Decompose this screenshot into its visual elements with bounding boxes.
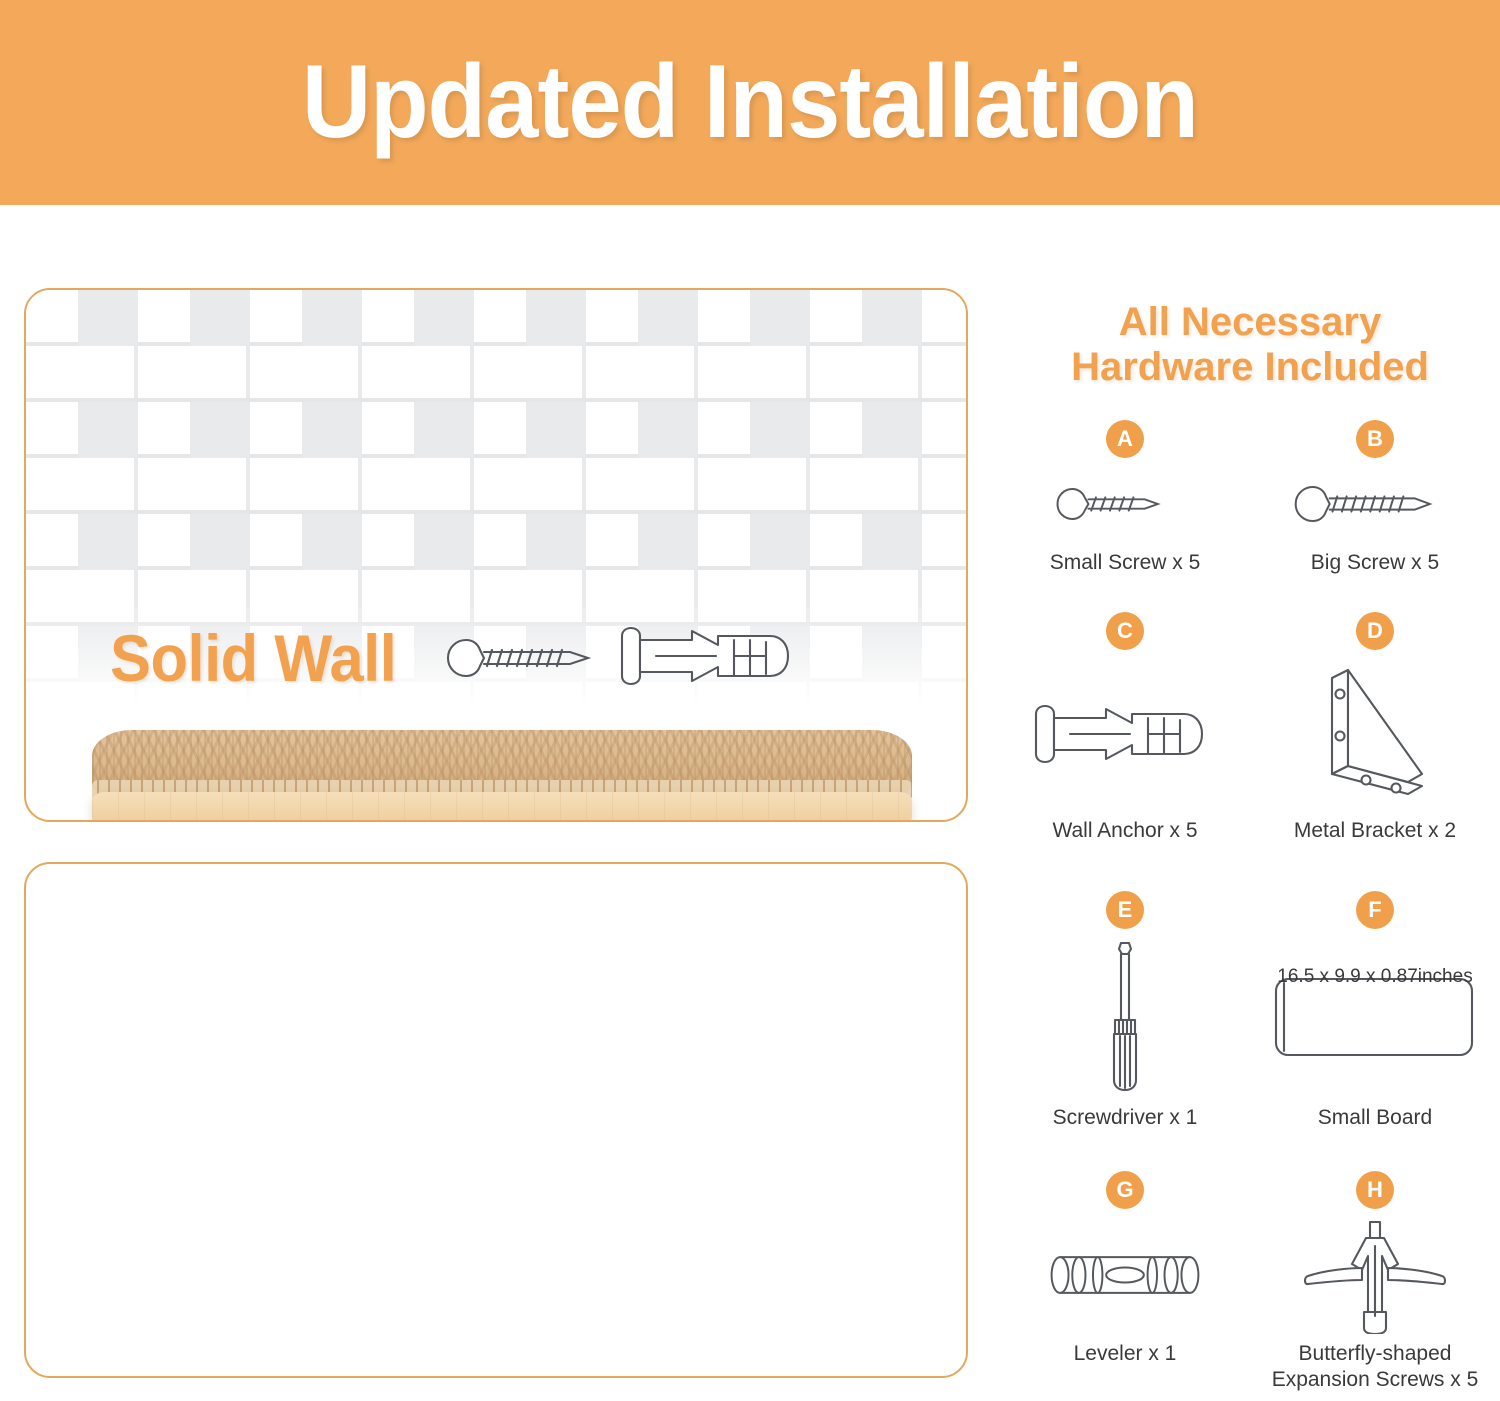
hardware-row: A Small Screw x 5 B — [1000, 420, 1500, 576]
wood-shelf-board — [92, 792, 912, 822]
shelf-product-image-solid — [92, 730, 912, 822]
board-icon: 16.5 x 9.9 x 0.87inches — [1270, 929, 1480, 1105]
header-banner: Updated Installation — [0, 0, 1500, 205]
hardware-row: G Leveler x 1 H — [1000, 1171, 1500, 1394]
butterfly-anchor-icon — [1300, 1209, 1450, 1341]
drywall-panel: Note: Drywall / hollow wall — [24, 862, 968, 1378]
wall-anchor-icon — [616, 620, 806, 692]
hardware-label-butterfly-screw: Butterfly-shaped Expansion Screws x 5 — [1250, 1341, 1500, 1394]
hardware-row: C Wall Anchor x 5 D — [1000, 612, 1500, 844]
hardware-grid: A Small Screw x 5 B — [1000, 420, 1500, 1393]
metal-bracket-icon — [1310, 650, 1440, 818]
hardware-badge-a: A — [1106, 420, 1144, 458]
hardware-badge-f: F — [1356, 891, 1394, 929]
big-screw-icon — [1290, 458, 1460, 550]
hardware-item-wall-anchor: C Wall Anchor x 5 — [1000, 612, 1250, 844]
hardware-badge-h: H — [1356, 1171, 1394, 1209]
hardware-label-big-screw: Big Screw x 5 — [1311, 550, 1439, 576]
hardware-item-butterfly-screw: H Butterfly-shaped Expansion Screws x 5 — [1250, 1171, 1500, 1394]
solid-wall-panel: Solid Wall Suitable for cement, natural … — [24, 288, 968, 822]
hardware-row: E Screwdriver x 1 F — [1000, 891, 1500, 1131]
hardware-label-small-board: Small Board — [1318, 1105, 1432, 1131]
page-title: Updated Installation — [302, 43, 1198, 162]
board-dimensions-text: 16.5 x 9.9 x 0.87inches — [1270, 929, 1480, 1025]
solid-wall-heading: Solid Wall — [110, 620, 396, 696]
infographic-page: Updated Installation Solid Wall — [0, 0, 1500, 1401]
hardware-included-title: All Necessary Hardware Included — [1000, 300, 1500, 390]
screw-icon — [440, 628, 620, 688]
hardware-item-leveler: G Leveler x 1 — [1000, 1171, 1250, 1394]
leveler-icon — [1045, 1209, 1205, 1341]
hardware-item-screwdriver: E Screwdriver x 1 — [1000, 891, 1250, 1131]
hardware-badge-g: G — [1106, 1171, 1144, 1209]
hardware-label-small-screw: Small Screw x 5 — [1050, 550, 1201, 576]
hardware-label-wall-anchor: Wall Anchor x 5 — [1052, 818, 1197, 844]
hardware-label-screwdriver: Screwdriver x 1 — [1053, 1105, 1198, 1131]
hardware-badge-c: C — [1106, 612, 1144, 650]
hardware-item-small-board: F 16.5 x 9.9 x 0.87inches Small Board — [1250, 891, 1500, 1131]
hardware-item-big-screw: B Big Screw x 5 — [1250, 420, 1500, 576]
hardware-item-small-screw: A Small Screw x 5 — [1000, 420, 1250, 576]
hardware-badge-d: D — [1356, 612, 1394, 650]
hardware-item-metal-bracket: D Metal Bracket x 2 — [1250, 612, 1500, 844]
screwdriver-icon — [1095, 929, 1155, 1105]
small-screw-icon — [1050, 458, 1200, 550]
hardware-badge-e: E — [1106, 891, 1144, 929]
hardware-title-line2: Hardware Included — [1000, 345, 1500, 390]
hardware-label-metal-bracket: Metal Bracket x 2 — [1294, 818, 1456, 844]
hardware-title-line1: All Necessary — [1000, 300, 1500, 345]
hardware-badge-b: B — [1356, 420, 1394, 458]
hardware-label-leveler: Leveler x 1 — [1074, 1341, 1177, 1367]
wall-anchor-icon — [1030, 650, 1220, 818]
